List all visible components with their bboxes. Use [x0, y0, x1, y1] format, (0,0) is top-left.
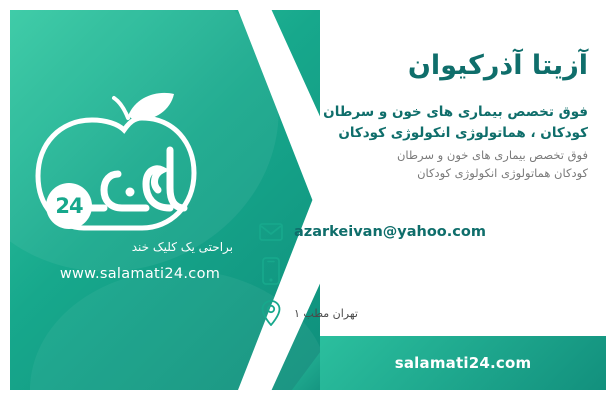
specialty-line-2: کودکان ، هماتولوژی انکولوژی کودکان [258, 123, 588, 144]
bottom-website: salamati24.com [395, 354, 532, 372]
card-inner: 24 براحتی یک کلیک خند www.salamati24.com… [10, 10, 606, 390]
specialty-primary: فوق تخصص بیماری های خون و سرطان کودکان ،… [258, 102, 588, 144]
envelope-icon [258, 217, 284, 247]
logo-tagline: براحتی یک کلیک خند [132, 240, 233, 254]
logo-badge-24: 24 [46, 183, 92, 229]
specialty-secondary: فوق تخصص بیماری های خون و سرطان کودکان ه… [258, 146, 588, 182]
specialty-sub-1: فوق تخصص بیماری های خون و سرطان [258, 146, 588, 164]
specialty-line-1: فوق تخصص بیماری های خون و سرطان [258, 102, 588, 123]
doctor-name: آزیتا آذرکیوان [408, 50, 588, 81]
logo: 24 براحتی یک کلیک خند www.salamati24.com [24, 88, 239, 288]
contact-address-row[interactable]: تهران مطب ۱ [258, 298, 588, 328]
location-pin-icon [258, 298, 284, 328]
specialty-sub-2: کودکان هماتولوژی انکولوژی کودکان [258, 164, 588, 182]
email-value: azarkeivan@yahoo.com [294, 224, 486, 240]
bottom-bar: salamati24.com [320, 336, 606, 390]
phone-icon [258, 256, 284, 286]
logo-website: www.salamati24.com [40, 266, 240, 282]
contact-phone-row[interactable] [258, 256, 588, 286]
address-value: تهران مطب ۱ [294, 307, 358, 320]
brand-panel: 24 براحتی یک کلیک خند www.salamati24.com [10, 10, 320, 390]
contact-email-row[interactable]: azarkeivan@yahoo.com [258, 217, 588, 247]
business-card: 24 براحتی یک کلیک خند www.salamati24.com… [0, 0, 616, 400]
